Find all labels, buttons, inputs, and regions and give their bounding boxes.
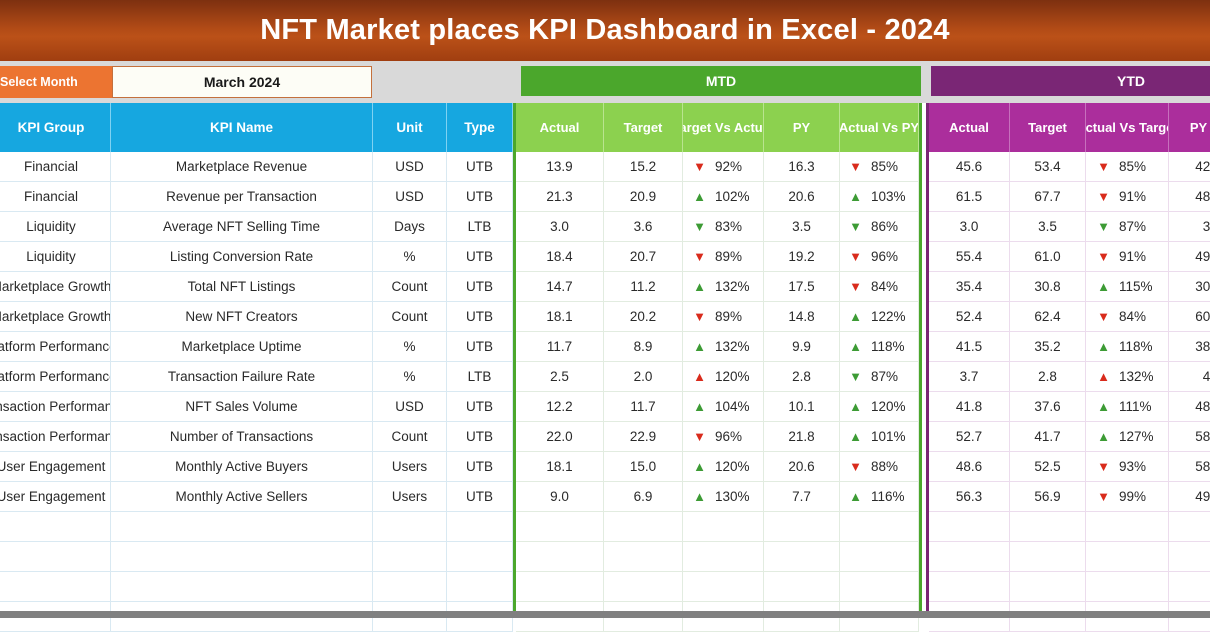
arrow-up-icon: ▲ — [1097, 340, 1110, 353]
variance-value: 91% — [1119, 249, 1157, 264]
col-header-ytd-target[interactable]: Target — [1010, 103, 1086, 152]
kpi-dashboard: NFT Market places KPI Dashboard in Excel… — [0, 0, 1210, 618]
cell-kpi-name[interactable]: NFT Sales Volume — [111, 392, 373, 422]
variance-value: 84% — [1119, 309, 1157, 324]
cell-unit[interactable]: USD — [373, 392, 447, 422]
cell-type[interactable]: UTB — [447, 242, 513, 272]
cell-ytd-target[interactable]: 41.7 — [1010, 422, 1086, 452]
cell-mtd-actual-vs-py[interactable]: ▼84% — [840, 272, 919, 302]
cell-mtd-py[interactable]: 7.7 — [764, 482, 840, 512]
kpi-table: KPI Group KPI Name Unit Type Actual Targ… — [0, 103, 1210, 611]
page-title: NFT Market places KPI Dashboard in Excel… — [260, 14, 950, 47]
cell-ytd-actual[interactable]: 3.7 — [929, 362, 1010, 392]
cell-empty[interactable] — [929, 542, 1010, 572]
cell-mtd-target[interactable]: 8.9 — [604, 332, 683, 362]
cell-mtd-py[interactable]: 10.1 — [764, 392, 840, 422]
cell-mtd-target-vs-actual[interactable]: ▲120% — [683, 362, 764, 392]
cell-ytd-actual-vs-target[interactable]: ▼91% — [1086, 242, 1169, 272]
col-header-ytd-actual[interactable]: Actual — [929, 103, 1010, 152]
cell-ytd-target[interactable]: 53.4 — [1010, 152, 1086, 182]
variance-value: 127% — [1119, 429, 1157, 444]
cell-mtd-target[interactable]: 2.0 — [604, 362, 683, 392]
cell-empty[interactable] — [447, 512, 513, 542]
variance-value: 86% — [871, 219, 909, 234]
cell-mtd-py[interactable]: 16.3 — [764, 152, 840, 182]
cell-empty[interactable] — [683, 512, 764, 542]
cell-empty[interactable] — [516, 572, 604, 602]
cell-mtd-actual[interactable]: 9.0 — [516, 482, 604, 512]
cell-empty[interactable] — [840, 542, 919, 572]
arrow-down-icon: ▼ — [1097, 220, 1110, 233]
cell-empty[interactable] — [840, 512, 919, 542]
arrow-up-icon: ▲ — [849, 430, 862, 443]
cell-ytd-actual-vs-target[interactable]: ▼93% — [1086, 452, 1169, 482]
cell-mtd-target[interactable]: 3.6 — [604, 212, 683, 242]
arrow-down-icon: ▼ — [849, 460, 862, 473]
cell-empty[interactable] — [604, 542, 683, 572]
arrow-down-icon: ▼ — [849, 160, 862, 173]
arrow-down-icon: ▼ — [849, 250, 862, 263]
cell-mtd-actual[interactable]: 3.0 — [516, 212, 604, 242]
cell-kpi-name[interactable]: Average NFT Selling Time — [111, 212, 373, 242]
cell-ytd-actual[interactable]: 61.5 — [929, 182, 1010, 212]
cell-mtd-actual-vs-py[interactable]: ▼87% — [840, 362, 919, 392]
cell-type[interactable]: UTB — [447, 422, 513, 452]
mtd-right-separator — [919, 103, 922, 611]
variance-value: 83% — [715, 219, 753, 234]
cell-ytd-target[interactable]: 52.5 — [1010, 452, 1086, 482]
arrow-up-icon: ▲ — [849, 190, 862, 203]
arrow-up-icon: ▲ — [849, 310, 862, 323]
cell-ytd-target[interactable]: 37.6 — [1010, 392, 1086, 422]
variance-value: 132% — [1119, 369, 1157, 384]
cell-empty[interactable] — [373, 572, 447, 602]
cell-ytd-actual-vs-target[interactable]: ▼87% — [1086, 212, 1169, 242]
arrow-down-icon: ▼ — [849, 220, 862, 233]
cell-mtd-target-vs-actual[interactable]: ▲102% — [683, 182, 764, 212]
arrow-up-icon: ▲ — [1097, 400, 1110, 413]
cell-empty[interactable] — [1010, 512, 1086, 542]
cell-type[interactable]: UTB — [447, 392, 513, 422]
cell-mtd-actual[interactable]: 18.4 — [516, 242, 604, 272]
cell-empty[interactable] — [1169, 542, 1210, 572]
arrow-down-icon: ▼ — [693, 250, 706, 263]
cell-empty[interactable] — [111, 542, 373, 572]
arrow-up-icon: ▲ — [849, 490, 862, 503]
arrow-down-icon: ▼ — [693, 160, 706, 173]
cell-kpi-group[interactable]: User Engagement — [0, 452, 111, 482]
variance-value: 88% — [871, 459, 909, 474]
cell-ytd-py[interactable]: 58. — [1169, 422, 1210, 452]
arrow-down-icon: ▼ — [1097, 190, 1110, 203]
dashboard-title-banner: NFT Market places KPI Dashboard in Excel… — [0, 0, 1210, 61]
cell-ytd-actual[interactable]: 55.4 — [929, 242, 1010, 272]
cell-unit[interactable]: Count — [373, 302, 447, 332]
cell-ytd-py[interactable]: 48. — [1169, 182, 1210, 212]
arrow-down-icon: ▼ — [693, 220, 706, 233]
cell-mtd-target[interactable]: 15.0 — [604, 452, 683, 482]
cell-unit[interactable]: Days — [373, 212, 447, 242]
col-header-mtd-py[interactable]: PY — [764, 103, 840, 152]
cell-empty[interactable] — [683, 542, 764, 572]
cell-empty[interactable] — [1086, 512, 1169, 542]
variance-value: 92% — [715, 159, 753, 174]
ytd-left-separator — [926, 103, 929, 611]
cell-empty[interactable] — [1086, 572, 1169, 602]
col-header-ytd-actual-vs-target[interactable]: Actual Vs Target — [1086, 103, 1169, 152]
cell-empty[interactable] — [683, 572, 764, 602]
cell-kpi-name[interactable]: Marketplace Revenue — [111, 152, 373, 182]
cell-mtd-py[interactable]: 2.8 — [764, 362, 840, 392]
cell-empty[interactable] — [1086, 542, 1169, 572]
cell-ytd-actual[interactable]: 41.5 — [929, 332, 1010, 362]
cell-kpi-group[interactable]: Transaction Performance — [0, 422, 111, 452]
variance-value: 89% — [715, 309, 753, 324]
col-header-unit[interactable]: Unit — [373, 103, 447, 152]
cell-mtd-target-vs-actual[interactable]: ▲130% — [683, 482, 764, 512]
mtd-band-header: MTD — [521, 66, 921, 96]
cell-empty[interactable] — [929, 512, 1010, 542]
arrow-down-icon: ▼ — [1097, 490, 1110, 503]
cell-empty[interactable] — [0, 512, 111, 542]
variance-value: 96% — [871, 249, 909, 264]
cell-unit[interactable]: Users — [373, 482, 447, 512]
variance-value: 115% — [1119, 279, 1157, 294]
cell-mtd-actual-vs-py[interactable]: ▲101% — [840, 422, 919, 452]
cell-kpi-name[interactable]: Revenue per Transaction — [111, 182, 373, 212]
cell-ytd-py[interactable]: 58. — [1169, 452, 1210, 482]
arrow-up-icon: ▲ — [693, 400, 706, 413]
arrow-down-icon: ▼ — [1097, 160, 1110, 173]
arrow-down-icon: ▼ — [693, 430, 706, 443]
arrow-up-icon: ▲ — [849, 340, 862, 353]
cell-empty[interactable] — [1169, 572, 1210, 602]
cell-mtd-actual-vs-py[interactable]: ▼85% — [840, 152, 919, 182]
cell-mtd-actual-vs-py[interactable]: ▼86% — [840, 212, 919, 242]
cell-mtd-target[interactable]: 20.7 — [604, 242, 683, 272]
cell-ytd-py[interactable]: 4. — [1169, 362, 1210, 392]
cell-ytd-actual[interactable]: 45.6 — [929, 152, 1010, 182]
cell-empty[interactable] — [1010, 572, 1086, 602]
cell-ytd-actual-vs-target[interactable]: ▲127% — [1086, 422, 1169, 452]
cell-unit[interactable]: USD — [373, 152, 447, 182]
cell-ytd-actual[interactable]: 56.3 — [929, 482, 1010, 512]
variance-value: 96% — [715, 429, 753, 444]
arrow-up-icon: ▲ — [1097, 430, 1110, 443]
cell-mtd-py[interactable]: 3.5 — [764, 212, 840, 242]
cell-mtd-target[interactable]: 15.2 — [604, 152, 683, 182]
cell-kpi-group[interactable]: Marketplace Growth — [0, 302, 111, 332]
arrow-up-icon: ▲ — [1097, 370, 1110, 383]
cell-mtd-actual[interactable]: 21.3 — [516, 182, 604, 212]
cell-type[interactable]: LTB — [447, 362, 513, 392]
cell-empty[interactable] — [764, 542, 840, 572]
cell-mtd-actual-vs-py[interactable]: ▲118% — [840, 332, 919, 362]
col-header-mtd-actual[interactable]: Actual — [516, 103, 604, 152]
cell-ytd-actual[interactable]: 48.6 — [929, 452, 1010, 482]
col-header-kpi-group[interactable]: KPI Group — [0, 103, 111, 152]
table-header-row: KPI Group KPI Name Unit Type Actual Targ… — [0, 103, 1210, 152]
cell-kpi-name[interactable]: Transaction Failure Rate — [111, 362, 373, 392]
variance-value: 122% — [871, 309, 909, 324]
cell-kpi-group[interactable]: Liquidity — [0, 212, 111, 242]
mtd-left-separator — [513, 103, 516, 611]
cell-kpi-name[interactable]: Monthly Active Sellers — [111, 482, 373, 512]
arrow-down-icon: ▼ — [1097, 250, 1110, 263]
cell-type[interactable]: UTB — [447, 152, 513, 182]
cell-unit[interactable]: Count — [373, 422, 447, 452]
cell-mtd-actual[interactable]: 2.5 — [516, 362, 604, 392]
cell-kpi-name[interactable]: Marketplace Uptime — [111, 332, 373, 362]
cell-type[interactable]: UTB — [447, 452, 513, 482]
cell-mtd-py[interactable]: 19.2 — [764, 242, 840, 272]
cell-ytd-target[interactable]: 2.8 — [1010, 362, 1086, 392]
cell-empty[interactable] — [516, 542, 604, 572]
cell-ytd-py[interactable]: 60. — [1169, 302, 1210, 332]
cell-mtd-target-vs-actual[interactable]: ▲104% — [683, 392, 764, 422]
cell-empty[interactable] — [0, 572, 111, 602]
cell-ytd-actual-vs-target[interactable]: ▲115% — [1086, 272, 1169, 302]
cell-type[interactable]: UTB — [447, 332, 513, 362]
cell-ytd-py[interactable]: 48. — [1169, 392, 1210, 422]
cell-ytd-target[interactable]: 62.4 — [1010, 302, 1086, 332]
select-month-label: Select Month — [0, 66, 112, 98]
cell-mtd-actual[interactable]: 11.7 — [516, 332, 604, 362]
cell-empty[interactable] — [111, 512, 373, 542]
variance-value: 103% — [871, 189, 909, 204]
cell-kpi-group[interactable]: Financial — [0, 182, 111, 212]
col-header-ytd-py[interactable]: PY — [1169, 103, 1210, 152]
cell-mtd-target-vs-actual[interactable]: ▼83% — [683, 212, 764, 242]
variance-value: 102% — [715, 189, 753, 204]
cell-ytd-target[interactable]: 56.9 — [1010, 482, 1086, 512]
cell-mtd-target[interactable]: 20.2 — [604, 302, 683, 332]
cell-mtd-target[interactable]: 11.2 — [604, 272, 683, 302]
cell-ytd-py[interactable]: 38. — [1169, 332, 1210, 362]
cell-kpi-group[interactable]: Transaction Performance — [0, 392, 111, 422]
arrow-up-icon: ▲ — [693, 460, 706, 473]
cell-mtd-py[interactable]: 20.6 — [764, 182, 840, 212]
cell-mtd-py[interactable]: 14.8 — [764, 302, 840, 332]
col-header-mtd-target[interactable]: Target — [604, 103, 683, 152]
cell-unit[interactable]: USD — [373, 182, 447, 212]
arrow-up-icon: ▲ — [693, 280, 706, 293]
cell-mtd-target-vs-actual[interactable]: ▼89% — [683, 242, 764, 272]
cell-mtd-py[interactable]: 21.8 — [764, 422, 840, 452]
cell-ytd-actual-vs-target[interactable]: ▲118% — [1086, 332, 1169, 362]
cell-mtd-actual[interactable]: 18.1 — [516, 302, 604, 332]
cell-mtd-target-vs-actual[interactable]: ▲132% — [683, 332, 764, 362]
cell-kpi-group[interactable]: Liquidity — [0, 242, 111, 272]
cell-unit[interactable]: Users — [373, 452, 447, 482]
cell-empty[interactable] — [1169, 512, 1210, 542]
cell-empty[interactable] — [0, 542, 111, 572]
cell-ytd-actual[interactable]: 52.4 — [929, 302, 1010, 332]
cell-mtd-actual[interactable]: 18.1 — [516, 452, 604, 482]
cell-kpi-group[interactable]: User Engagement — [0, 482, 111, 512]
col-header-mtd-target-vs-actual[interactable]: Target Vs Actual — [683, 103, 764, 152]
cell-ytd-actual-vs-target[interactable]: ▼84% — [1086, 302, 1169, 332]
cell-type[interactable]: UTB — [447, 302, 513, 332]
cell-ytd-target[interactable]: 67.7 — [1010, 182, 1086, 212]
cell-mtd-actual-vs-py[interactable]: ▼88% — [840, 452, 919, 482]
cell-type[interactable]: UTB — [447, 482, 513, 512]
cell-mtd-actual[interactable]: 12.2 — [516, 392, 604, 422]
variance-value: 93% — [1119, 459, 1157, 474]
variance-value: 89% — [715, 249, 753, 264]
cell-unit[interactable]: % — [373, 362, 447, 392]
cell-ytd-target[interactable]: 35.2 — [1010, 332, 1086, 362]
variance-value: 118% — [1119, 339, 1157, 354]
cell-mtd-py[interactable]: 20.6 — [764, 452, 840, 482]
cell-ytd-target[interactable]: 30.8 — [1010, 272, 1086, 302]
variance-value: 120% — [715, 459, 753, 474]
cell-ytd-py[interactable]: 30. — [1169, 272, 1210, 302]
variance-value: 132% — [715, 339, 753, 354]
cell-ytd-actual[interactable]: 3.0 — [929, 212, 1010, 242]
cell-ytd-target[interactable]: 3.5 — [1010, 212, 1086, 242]
arrow-up-icon: ▲ — [693, 190, 706, 203]
cell-empty[interactable] — [1010, 542, 1086, 572]
cell-mtd-actual-vs-py[interactable]: ▲120% — [840, 392, 919, 422]
arrow-up-icon: ▲ — [1097, 280, 1110, 293]
cell-kpi-name[interactable]: Total NFT Listings — [111, 272, 373, 302]
variance-value: 84% — [871, 279, 909, 294]
arrow-down-icon: ▼ — [849, 280, 862, 293]
variance-value: 99% — [1119, 489, 1157, 504]
cell-mtd-target[interactable]: 22.9 — [604, 422, 683, 452]
cell-empty[interactable] — [516, 512, 604, 542]
cell-empty[interactable] — [373, 512, 447, 542]
cell-mtd-actual-vs-py[interactable]: ▲122% — [840, 302, 919, 332]
col-header-kpi-name[interactable]: KPI Name — [111, 103, 373, 152]
cell-kpi-name[interactable]: New NFT Creators — [111, 302, 373, 332]
col-header-mtd-actual-vs-py[interactable]: Actual Vs PY — [840, 103, 919, 152]
cell-empty[interactable] — [840, 572, 919, 602]
variance-value: 130% — [715, 489, 753, 504]
month-selector[interactable]: March 2024 — [112, 66, 372, 98]
cell-mtd-target[interactable]: 11.7 — [604, 392, 683, 422]
col-header-type[interactable]: Type — [447, 103, 513, 152]
cell-empty[interactable] — [447, 572, 513, 602]
arrow-up-icon: ▲ — [693, 340, 706, 353]
cell-ytd-actual[interactable]: 41.8 — [929, 392, 1010, 422]
variance-value: 132% — [715, 279, 753, 294]
cell-mtd-actual[interactable]: 22.0 — [516, 422, 604, 452]
cell-mtd-target[interactable]: 6.9 — [604, 482, 683, 512]
ytd-band-header: YTD — [931, 66, 1210, 96]
arrow-down-icon: ▼ — [849, 370, 862, 383]
cell-ytd-actual-vs-target[interactable]: ▲132% — [1086, 362, 1169, 392]
arrow-down-icon: ▼ — [1097, 310, 1110, 323]
cell-kpi-group[interactable]: Platform Performance — [0, 362, 111, 392]
cell-empty[interactable] — [111, 572, 373, 602]
cell-type[interactable]: UTB — [447, 272, 513, 302]
arrow-down-icon: ▼ — [693, 310, 706, 323]
variance-value: 85% — [871, 159, 909, 174]
cell-unit[interactable]: % — [373, 242, 447, 272]
cell-ytd-target[interactable]: 61.0 — [1010, 242, 1086, 272]
cell-unit[interactable]: Count — [373, 272, 447, 302]
cell-mtd-actual-vs-py[interactable]: ▲116% — [840, 482, 919, 512]
cell-ytd-py[interactable]: 42. — [1169, 152, 1210, 182]
variance-value: 118% — [871, 339, 909, 354]
cell-mtd-py[interactable]: 17.5 — [764, 272, 840, 302]
cell-ytd-actual-vs-target[interactable]: ▼91% — [1086, 182, 1169, 212]
cell-mtd-actual-vs-py[interactable]: ▼96% — [840, 242, 919, 272]
bottom-border — [0, 611, 1210, 618]
variance-value: 116% — [871, 489, 909, 504]
cell-kpi-name[interactable]: Number of Transactions — [111, 422, 373, 452]
cell-mtd-actual-vs-py[interactable]: ▲103% — [840, 182, 919, 212]
cell-type[interactable]: LTB — [447, 212, 513, 242]
arrow-up-icon: ▲ — [849, 400, 862, 413]
cell-empty[interactable] — [604, 572, 683, 602]
cell-kpi-name[interactable]: Monthly Active Buyers — [111, 452, 373, 482]
arrow-up-icon: ▲ — [693, 370, 706, 383]
cell-empty[interactable] — [764, 512, 840, 542]
cell-mtd-target-vs-actual[interactable]: ▼96% — [683, 422, 764, 452]
cell-type[interactable]: UTB — [447, 182, 513, 212]
arrow-up-icon: ▲ — [693, 490, 706, 503]
cell-mtd-target-vs-actual[interactable]: ▼89% — [683, 302, 764, 332]
cell-kpi-group[interactable]: Marketplace Growth — [0, 272, 111, 302]
variance-value: 101% — [871, 429, 909, 444]
cell-empty[interactable] — [373, 542, 447, 572]
cell-ytd-actual-vs-target[interactable]: ▼99% — [1086, 482, 1169, 512]
cell-ytd-actual-vs-target[interactable]: ▲111% — [1086, 392, 1169, 422]
cell-unit[interactable]: % — [373, 332, 447, 362]
cell-ytd-actual[interactable]: 52.7 — [929, 422, 1010, 452]
cell-ytd-actual[interactable]: 35.4 — [929, 272, 1010, 302]
cell-mtd-actual[interactable]: 14.7 — [516, 272, 604, 302]
cell-empty[interactable] — [447, 542, 513, 572]
cell-empty[interactable] — [929, 572, 1010, 602]
cell-mtd-target-vs-actual[interactable]: ▼92% — [683, 152, 764, 182]
variance-value: 104% — [715, 399, 753, 414]
cell-ytd-py[interactable]: 49. — [1169, 482, 1210, 512]
cell-ytd-py[interactable]: 3. — [1169, 212, 1210, 242]
cell-mtd-target[interactable]: 20.9 — [604, 182, 683, 212]
variance-value: 120% — [715, 369, 753, 384]
cell-mtd-target-vs-actual[interactable]: ▲132% — [683, 272, 764, 302]
variance-value: 85% — [1119, 159, 1157, 174]
cell-kpi-group[interactable]: Financial — [0, 152, 111, 182]
variance-value: 87% — [871, 369, 909, 384]
cell-empty[interactable] — [764, 572, 840, 602]
cell-mtd-target-vs-actual[interactable]: ▲120% — [683, 452, 764, 482]
variance-value: 111% — [1119, 399, 1157, 414]
arrow-down-icon: ▼ — [1097, 460, 1110, 473]
cell-mtd-actual[interactable]: 13.9 — [516, 152, 604, 182]
cell-kpi-group[interactable]: Platform Performance — [0, 332, 111, 362]
cell-ytd-actual-vs-target[interactable]: ▼85% — [1086, 152, 1169, 182]
cell-mtd-py[interactable]: 9.9 — [764, 332, 840, 362]
cell-kpi-name[interactable]: Listing Conversion Rate — [111, 242, 373, 272]
variance-value: 91% — [1119, 189, 1157, 204]
cell-ytd-py[interactable]: 49. — [1169, 242, 1210, 272]
variance-value: 120% — [871, 399, 909, 414]
variance-value: 87% — [1119, 219, 1157, 234]
cell-empty[interactable] — [604, 512, 683, 542]
